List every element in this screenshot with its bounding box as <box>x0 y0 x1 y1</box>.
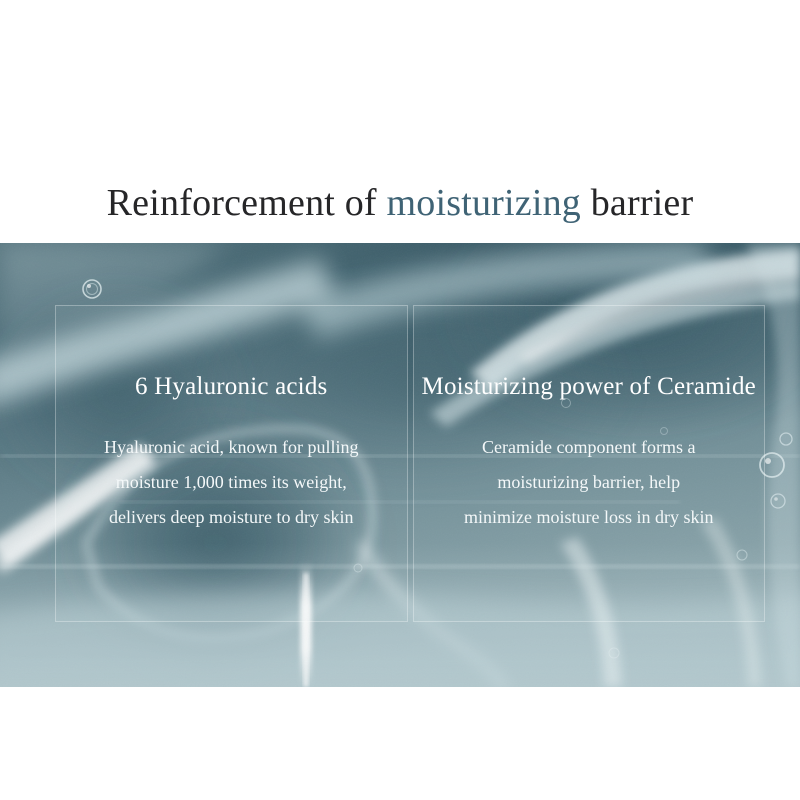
page-title: Reinforcement of moisturizing barrier <box>0 180 800 226</box>
page-title-part1: Reinforcement of <box>107 182 387 224</box>
feature-card-heading: 6 Hyaluronic acids <box>62 372 401 402</box>
feature-card-content: Moisturizing power of Ceramide Ceramide … <box>414 372 765 535</box>
feature-card-body-line: moisture 1,000 times its weight, <box>62 465 401 500</box>
feature-card-body: Ceramide component forms a moisturizing … <box>420 430 759 535</box>
product-feature-banner: Reinforcement of moisturizing barrier <box>0 0 800 800</box>
page-title-part2: barrier <box>581 182 693 224</box>
feature-card-content: 6 Hyaluronic acids Hyaluronic acid, know… <box>56 372 407 535</box>
feature-card-ceramide: Moisturizing power of Ceramide Ceramide … <box>413 305 766 622</box>
water-photo-band: 6 Hyaluronic acids Hyaluronic acid, know… <box>0 243 800 687</box>
bottom-band <box>0 687 800 800</box>
page-title-accent: moisturizing <box>387 182 582 224</box>
feature-card-body-line: moisturizing barrier, help <box>420 465 759 500</box>
feature-card-list: 6 Hyaluronic acids Hyaluronic acid, know… <box>55 305 765 622</box>
feature-card-heading: Moisturizing power of Ceramide <box>420 372 759 402</box>
feature-card-body-line: Ceramide component forms a <box>420 430 759 465</box>
feature-card-hyaluronic: 6 Hyaluronic acids Hyaluronic acid, know… <box>55 305 408 622</box>
title-band: Reinforcement of moisturizing barrier <box>0 0 800 243</box>
feature-card-body-line: Hyaluronic acid, known for pulling <box>62 430 401 465</box>
feature-card-body-line: minimize moisture loss in dry skin <box>420 500 759 535</box>
feature-card-body-line: delivers deep moisture to dry skin <box>62 500 401 535</box>
feature-card-body: Hyaluronic acid, known for pulling moist… <box>62 430 401 535</box>
